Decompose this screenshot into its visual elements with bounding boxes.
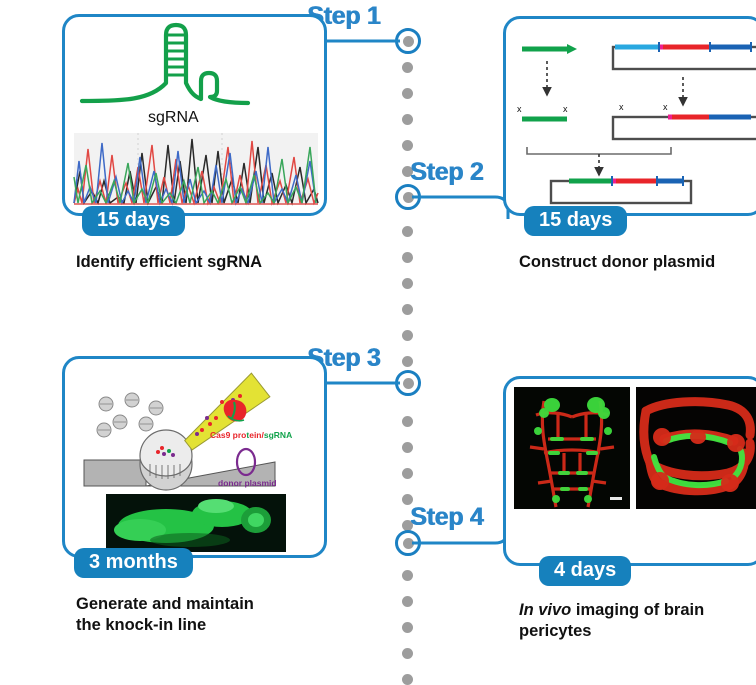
svg-text:x: x: [517, 104, 522, 114]
step4-figure: [514, 387, 756, 511]
step3-caption: Generate and maintain the knock-in line: [76, 594, 356, 636]
step2-caption: Construct donor plasmid: [519, 252, 756, 273]
step2-duration-badge: 15 days: [524, 206, 627, 236]
step3-figure: Cas9 protein/sgRNA donor plasmid: [70, 364, 322, 554]
svg-text:x: x: [619, 102, 624, 112]
step2-card[interactable]: x x x x: [503, 16, 756, 216]
step-label-4: Step 4: [410, 503, 483, 532]
svg-text:x: x: [563, 104, 568, 114]
step4-card[interactable]: [503, 376, 756, 566]
step3-card[interactable]: Cas9 protein/sgRNA donor plasmid: [62, 356, 327, 558]
svg-text:sgRNA: sgRNA: [148, 109, 199, 126]
step4-caption-italic: In vivo: [519, 601, 571, 619]
svg-text:Cas9 protein/sgRNA: Cas9 protein/sgRNA: [210, 430, 292, 440]
svg-text:x: x: [663, 102, 668, 112]
workflow-diagram: Step 1 Step 2 Step 3 Step 4 sgRNA: [0, 0, 756, 685]
step4-duration-badge: 4 days: [539, 556, 631, 586]
timeline-track: [398, 0, 418, 685]
step1-card[interactable]: sgRNA: [62, 14, 327, 216]
step4-caption: In vivo imaging of brain pericytes: [519, 600, 756, 642]
step1-figure: sgRNA: [70, 21, 322, 211]
step1-caption: Identify efficient sgRNA: [76, 252, 356, 273]
step-label-2: Step 2: [410, 158, 483, 187]
step1-duration-badge: 15 days: [82, 206, 185, 236]
step3-duration-badge: 3 months: [74, 548, 193, 578]
step2-figure: x x x x: [511, 23, 756, 213]
svg-text:donor plasmid: donor plasmid: [218, 478, 277, 488]
